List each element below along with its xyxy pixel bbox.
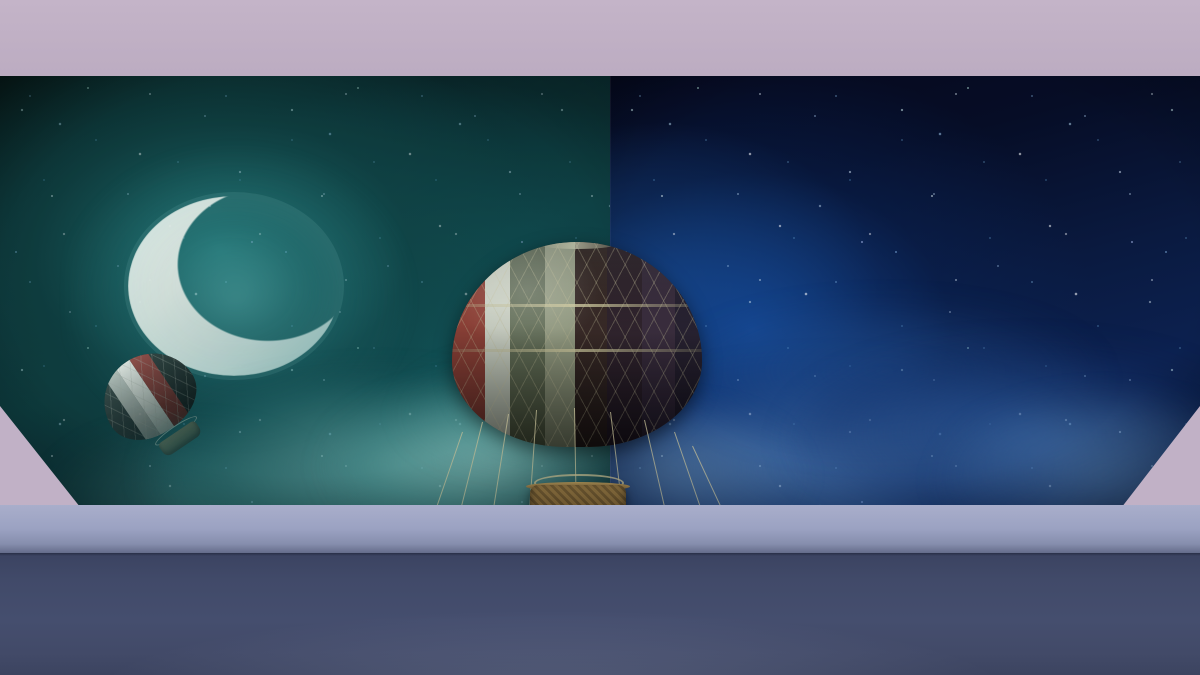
monitor-stand (0, 505, 1200, 555)
monitor-screen[interactable]: Night Shift ON Night Shift OFF (0, 76, 1200, 512)
hot-air-balloon (452, 242, 702, 512)
screenshot-stage: Night Shift ON Night Shift OFF (0, 0, 1200, 675)
desk-surface (0, 553, 1200, 675)
wall-backdrop (0, 0, 1200, 76)
